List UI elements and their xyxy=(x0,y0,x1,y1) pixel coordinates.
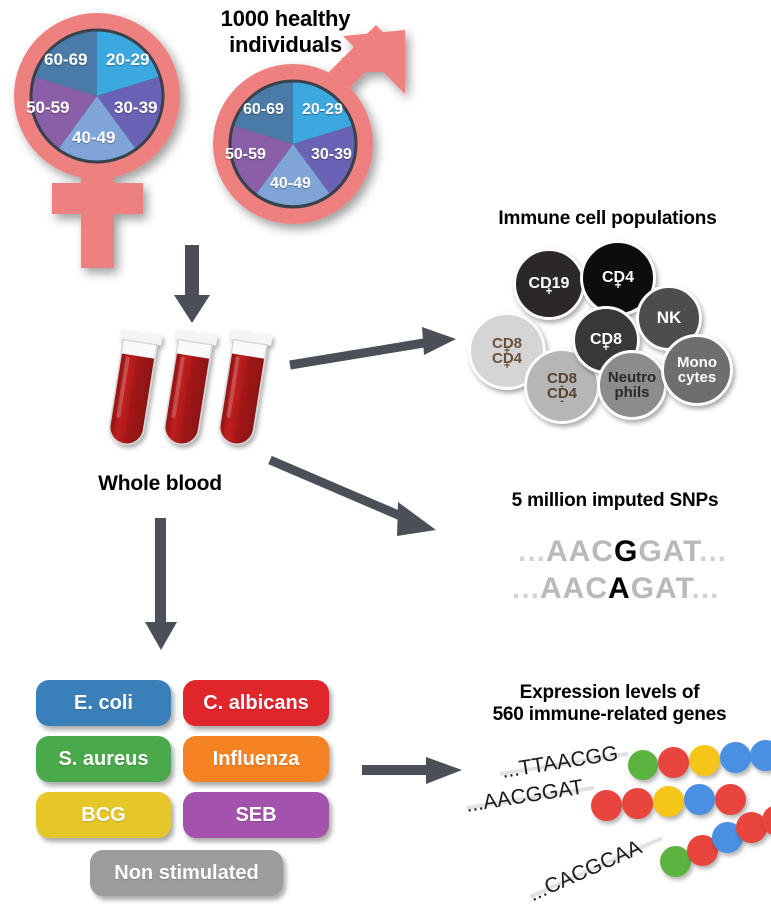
cell-nk-label: NK xyxy=(657,309,682,327)
cell-cd8-pos-label: CD8+ xyxy=(492,336,522,351)
pie-label-20-29: 20-29 xyxy=(106,50,149,70)
pie-label-40-49: 40-49 xyxy=(72,128,115,148)
cell-cd4-pos-label: CD4+ xyxy=(492,351,522,366)
cell-mono-line2: cytes xyxy=(677,370,717,385)
snp-bottom-trail: ... xyxy=(691,572,719,605)
snp-bottom-post: GAT xyxy=(631,572,692,605)
snp-top-variant: G xyxy=(614,535,638,568)
pie-label-male-30-39: 30-39 xyxy=(311,146,352,164)
cell-cd8-label: CD8+ xyxy=(590,332,622,348)
pie-label-male-20-29: 20-29 xyxy=(302,101,343,119)
whole-blood-label: Whole blood xyxy=(80,472,240,497)
pie-label-male-50-59: 50-59 xyxy=(225,146,266,164)
pill-seb[interactable]: SEB xyxy=(183,792,329,838)
cell-cd19-label: CD19+ xyxy=(529,276,570,292)
dna-strand-3-text: ...CACGCAA xyxy=(525,836,646,907)
arrow-blood-to-snp xyxy=(270,452,460,552)
dna-bead xyxy=(720,742,751,773)
male-gender-symbol: 20-29 30-39 40-49 50-59 60-69 xyxy=(205,28,420,238)
pill-s-aureus[interactable]: S. aureus xyxy=(36,736,171,782)
cell-cd8-neg-label: CD8- xyxy=(547,371,577,386)
blood-tubes xyxy=(108,330,283,465)
cell-mono-line1: Mono xyxy=(677,355,717,370)
dna-bead xyxy=(750,740,771,771)
snp-bottom-pre: AAC xyxy=(540,572,608,605)
snp-title: 5 million imputed SNPs xyxy=(470,490,760,512)
pill-c-albicans[interactable]: C. albicans xyxy=(183,680,329,726)
arrow-blood-to-immune xyxy=(290,325,460,370)
cell-neutro-line2: phils xyxy=(608,385,656,400)
pie-label-male-60-69: 60-69 xyxy=(243,101,284,119)
arrow-down-blood-to-stimulation xyxy=(140,518,182,653)
pill-non-stimulated-label: Non stimulated xyxy=(114,862,258,885)
pill-bcg[interactable]: BCG xyxy=(36,792,171,838)
pill-influenza-label: Influenza xyxy=(213,748,300,771)
pill-seb-label: SEB xyxy=(235,804,276,827)
cell-neutrophils: Neutro phils xyxy=(597,350,667,420)
expression-title: Expression levels of 560 immune-related … xyxy=(452,682,767,727)
pie-label-50-59: 50-59 xyxy=(26,98,69,118)
pill-e-coli[interactable]: E. coli xyxy=(36,680,171,726)
arrow-down-cohort-to-blood xyxy=(170,245,214,325)
cell-cd19-pos: CD19+ xyxy=(513,248,585,320)
snp-top-pre: AAC xyxy=(546,535,614,568)
immune-cell-cluster: CD8+ CD4+ CD8- CD4- CD19+ CD4+ CD8+ NK xyxy=(458,240,758,420)
cell-cd4-label: CD4+ xyxy=(602,270,634,286)
expression-title-line1: Expression levels of xyxy=(452,682,767,704)
pill-e-coli-label: E. coli xyxy=(74,692,133,715)
snp-sequence-bottom: ...AACAGAT... xyxy=(512,572,719,606)
pill-influenza[interactable]: Influenza xyxy=(183,736,329,782)
figure-canvas: 1000 healthy individuals xyxy=(0,0,771,922)
pill-bcg-label: BCG xyxy=(81,804,125,827)
female-gender-symbol: 20-29 30-39 40-49 50-59 60-69 xyxy=(2,8,192,273)
pie-label-male-40-49: 40-49 xyxy=(270,175,311,193)
cell-cd4-neg-label: CD4- xyxy=(547,386,577,401)
snp-top-post: GAT xyxy=(638,535,699,568)
dna-strand-3: ...CACGCAA xyxy=(540,800,771,910)
pie-label-30-39: 30-39 xyxy=(114,98,157,118)
snp-sequence-top: ...AACGGAT... xyxy=(518,535,727,569)
cell-monocytes: Mono cytes xyxy=(661,334,733,406)
expression-title-line2: 560 immune-related genes xyxy=(452,704,767,726)
pill-s-aureus-label: S. aureus xyxy=(58,748,148,771)
pill-c-albicans-label: C. albicans xyxy=(203,692,309,715)
snp-top-trail: ... xyxy=(699,535,727,568)
snp-top-lead: ... xyxy=(518,535,546,568)
immune-title: Immune cell populations xyxy=(455,208,760,230)
snp-bottom-variant: A xyxy=(608,572,631,605)
snp-bottom-lead: ... xyxy=(512,572,540,605)
arrow-stimulation-to-expression xyxy=(362,752,467,792)
pill-non-stimulated[interactable]: Non stimulated xyxy=(90,850,283,896)
cell-neutro-line1: Neutro xyxy=(608,370,656,385)
pie-label-60-69: 60-69 xyxy=(44,50,87,70)
